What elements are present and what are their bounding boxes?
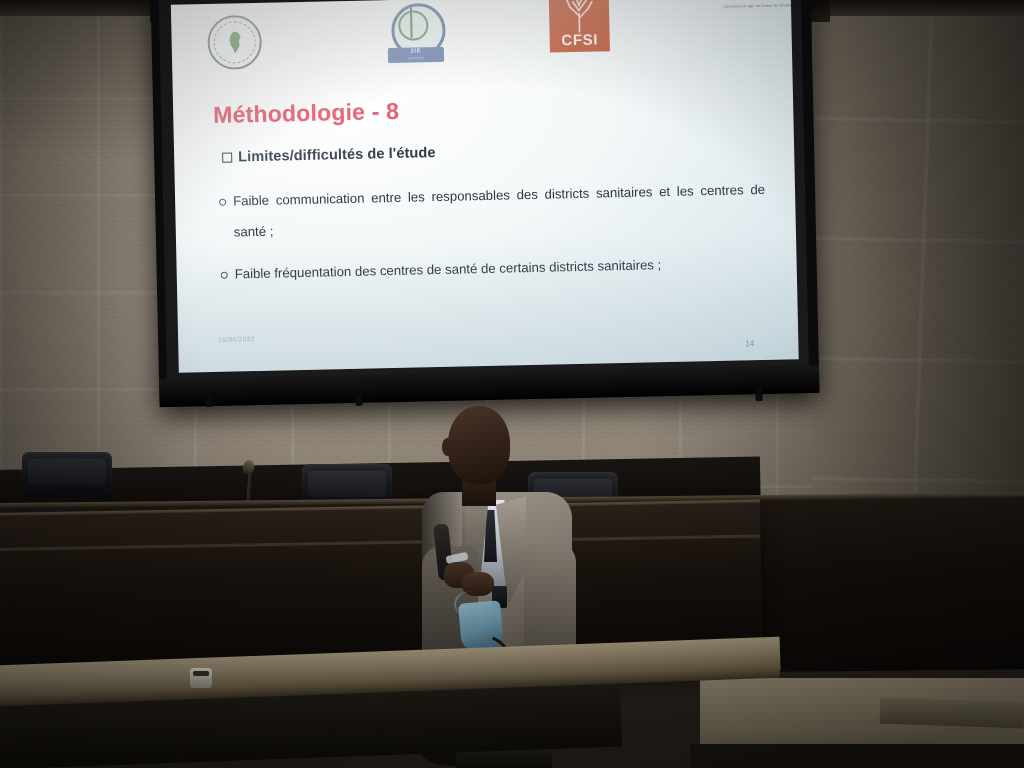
2cd-tagline: Construire et agir en faveur du développ… — [719, 3, 799, 10]
circle-bullet-icon — [221, 272, 228, 279]
slide-footer-date: 16/06/2022 — [218, 336, 255, 344]
chair-left — [22, 452, 112, 498]
projection-screen: 2IE INSTITUT CFSI — [151, 0, 820, 407]
square-bullet-icon — [222, 153, 232, 163]
emblem-sublabel: INSTITUT — [388, 56, 444, 61]
slide-logo-bar: 2IE INSTITUT CFSI — [171, 0, 792, 79]
slide-title: Méthodologie - 8 — [213, 98, 399, 129]
slide-subtitle: Limites/difficultés de l'étude — [222, 145, 436, 166]
screen-mount-left — [205, 394, 212, 407]
slide-bullet-list: Faible communication entre les responsab… — [219, 174, 767, 301]
medecine-dafrique-logo — [207, 15, 262, 70]
acoustic-panel-wall-right — [812, 0, 1024, 520]
head — [448, 406, 510, 484]
screen-mount-right — [755, 388, 762, 401]
bullet-text: Faible fréquentation des centres de sant… — [234, 249, 661, 289]
slide-subtitle-text: Limites/difficultés de l'étude — [238, 145, 436, 165]
circle-bullet-icon — [219, 199, 226, 206]
emblem-base-plate: 2IE INSTITUT — [388, 47, 444, 63]
cfsi-logo: CFSI — [548, 0, 610, 53]
list-item: Faible communication entre les responsab… — [219, 174, 766, 248]
screen-mount-center — [355, 393, 362, 406]
floor-step-right — [880, 697, 1024, 728]
floor-shadow-strip — [690, 744, 1024, 768]
presentation-photo-scene: 2IE INSTITUT CFSI — [0, 0, 1024, 768]
2cd-logo: 2CD Construire et agir en faveur du déve… — [718, 0, 799, 27]
tree-icon — [559, 0, 600, 33]
paper-cup — [190, 668, 212, 688]
projected-slide: 2IE INSTITUT CFSI — [171, 0, 799, 373]
list-item: Faible fréquentation des centres de sant… — [220, 247, 767, 290]
slide-page-number: 14 — [745, 338, 755, 348]
institutional-emblem-logo: 2IE INSTITUT — [387, 3, 444, 66]
bullet-text: Faible communication entre les responsab… — [233, 174, 766, 248]
cfsi-label: CFSI — [561, 33, 598, 49]
